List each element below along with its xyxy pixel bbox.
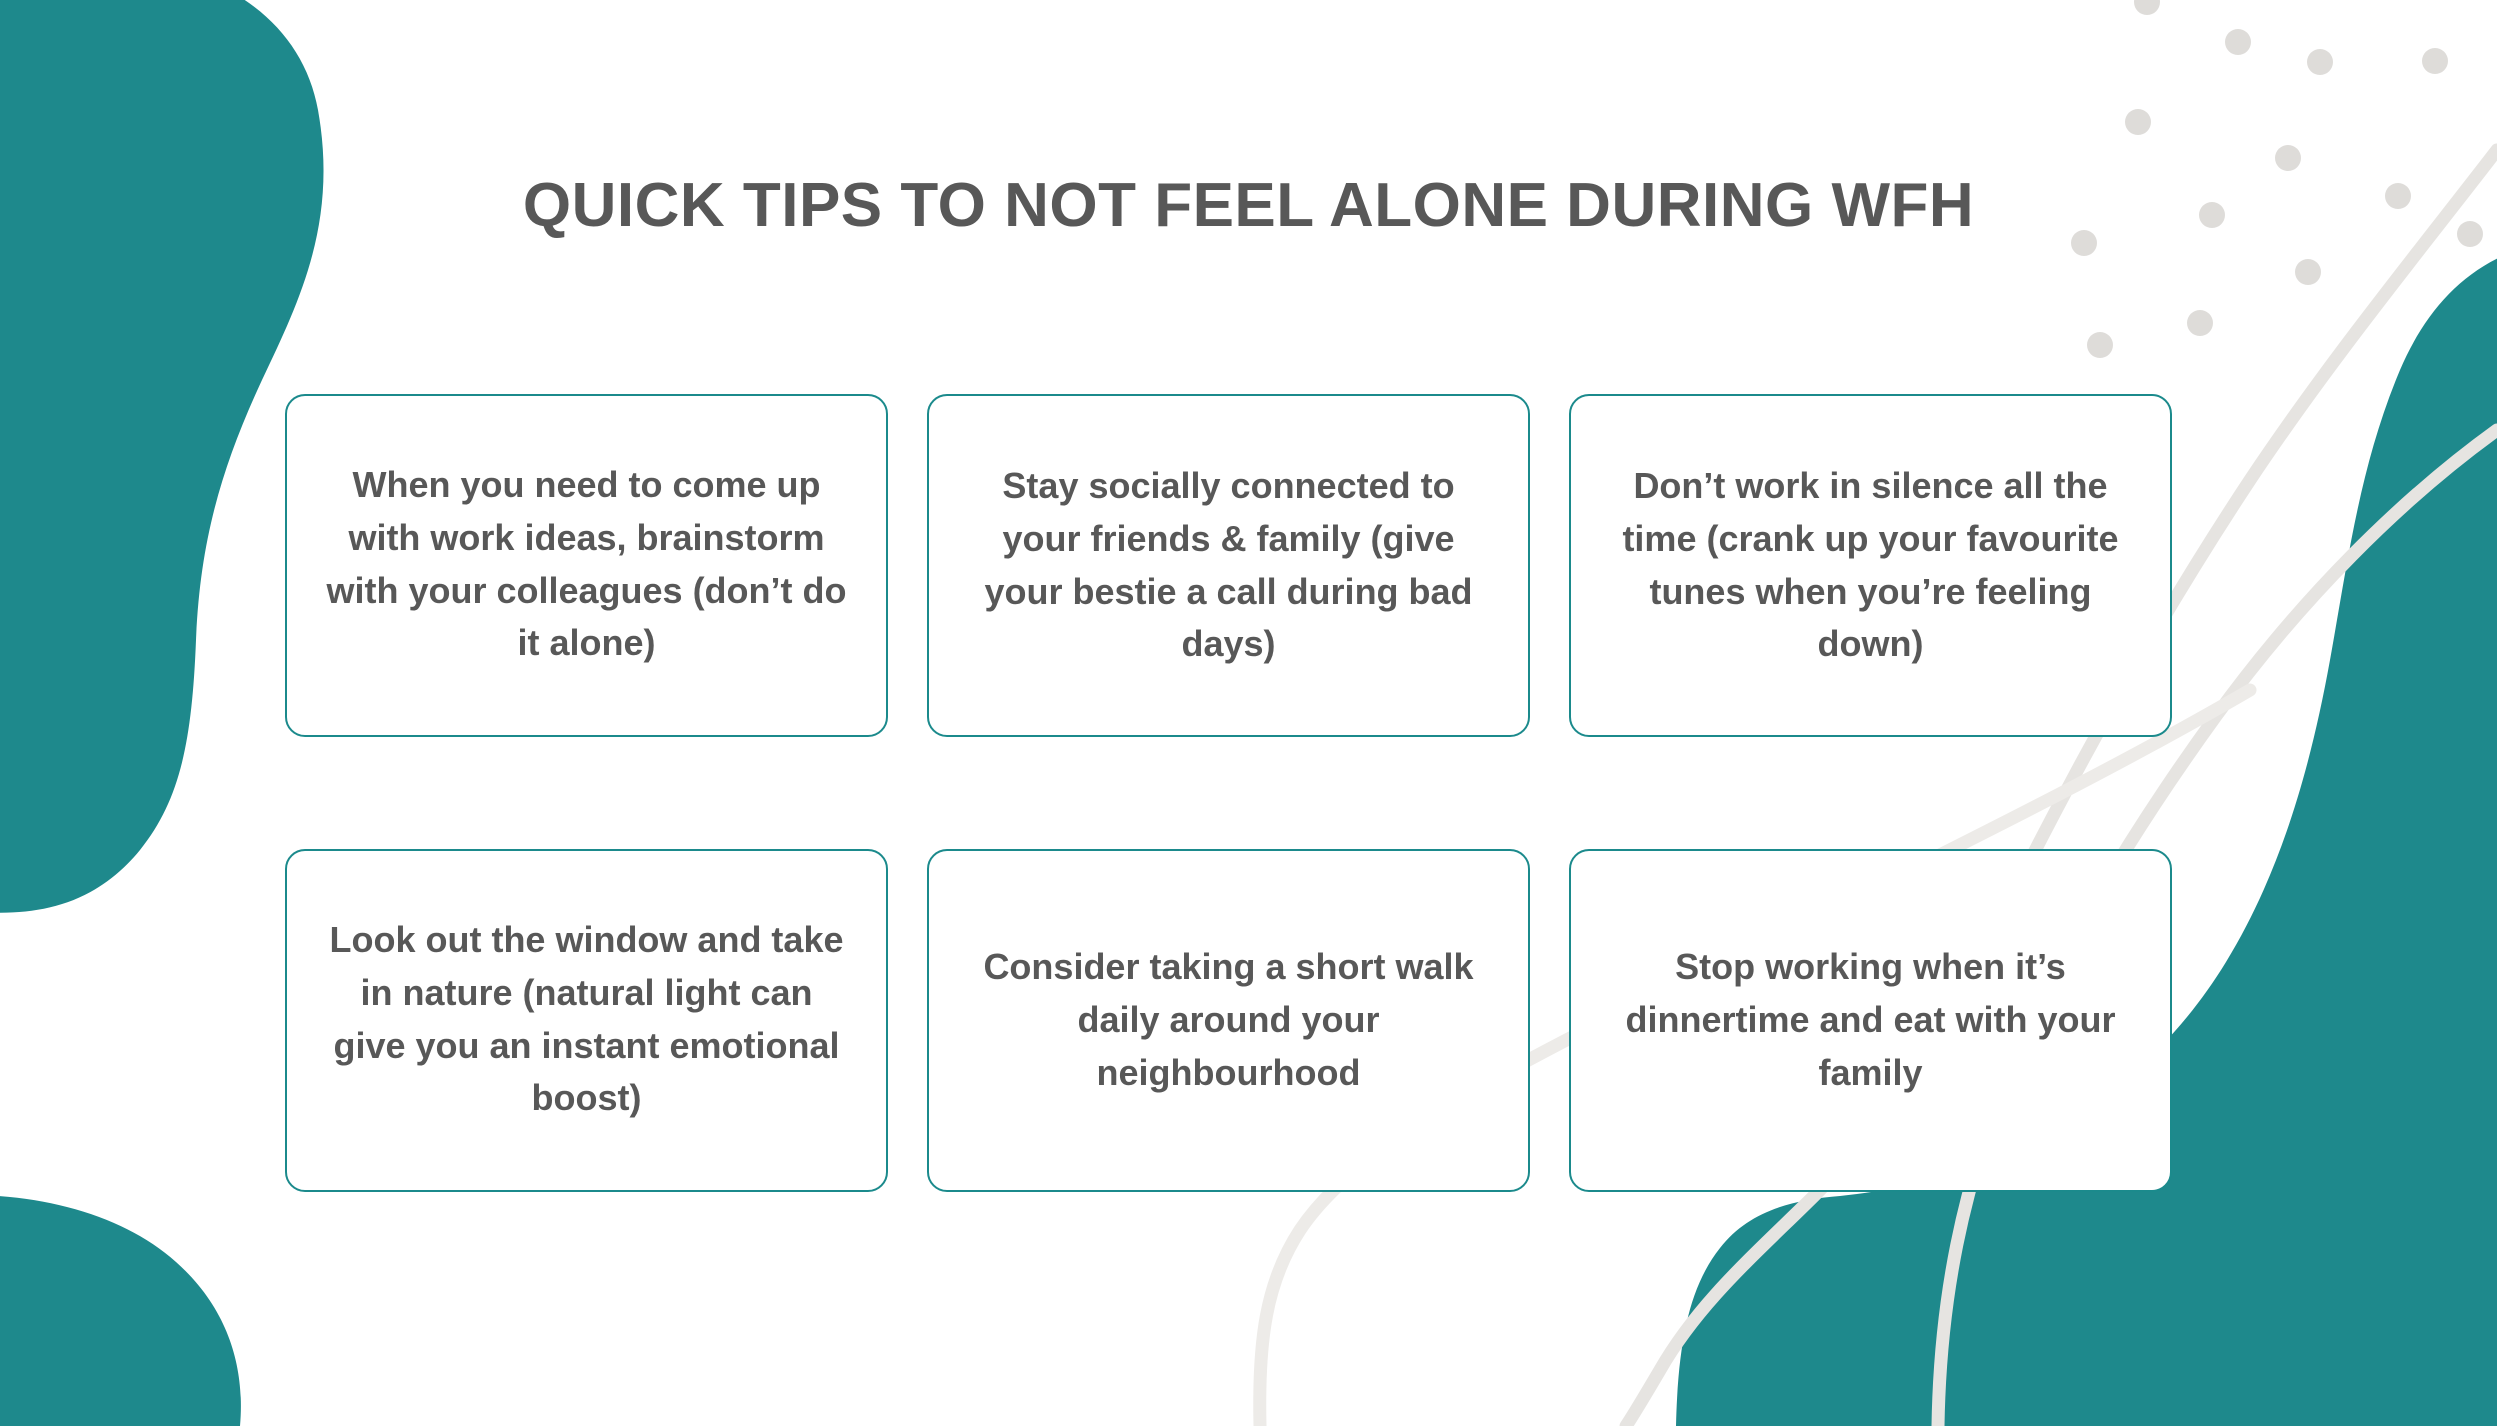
tip-card-1-text: When you need to come up with work ideas… (321, 459, 852, 671)
teal-blob-bottom-left-shape (0, 1195, 241, 1426)
decor-dot (2307, 49, 2333, 75)
decor-dot (2225, 29, 2251, 55)
decor-dot (2134, 0, 2160, 15)
page-title: QUICK TIPS TO NOT FEEL ALONE DURING WFH (0, 170, 2497, 241)
tip-card-3[interactable]: Don’t work in silence all the time (cran… (1569, 394, 2172, 737)
tip-card-2[interactable]: Stay socially connected to your friends … (927, 394, 1530, 737)
teal-blob-top-left-shape (0, 0, 324, 913)
tip-card-4[interactable]: Look out the window and take in nature (… (285, 849, 888, 1192)
decor-dot (2422, 48, 2448, 74)
tip-card-3-text: Don’t work in silence all the time (cran… (1605, 460, 2136, 672)
decor-dot (2125, 109, 2151, 135)
tip-card-6-text: Stop working when it’s dinnertime and ea… (1605, 941, 2136, 1100)
tip-card-1[interactable]: When you need to come up with work ideas… (285, 394, 888, 737)
tip-card-2-text: Stay socially connected to your friends … (963, 460, 1494, 672)
decor-dot (2187, 310, 2213, 336)
tip-card-6[interactable]: Stop working when it’s dinnertime and ea… (1569, 849, 2172, 1192)
tip-card-5[interactable]: Consider taking a short walk daily aroun… (927, 849, 1530, 1192)
tips-card-grid: When you need to come up with work ideas… (285, 394, 2172, 1196)
decor-dot (2295, 259, 2321, 285)
tip-card-5-text: Consider taking a short walk daily aroun… (963, 941, 1494, 1100)
slide-canvas: QUICK TIPS TO NOT FEEL ALONE DURING WFH … (0, 0, 2497, 1426)
decor-dot (2275, 145, 2301, 171)
tip-card-4-text: Look out the window and take in nature (… (321, 914, 852, 1126)
decor-dot (2087, 332, 2113, 358)
